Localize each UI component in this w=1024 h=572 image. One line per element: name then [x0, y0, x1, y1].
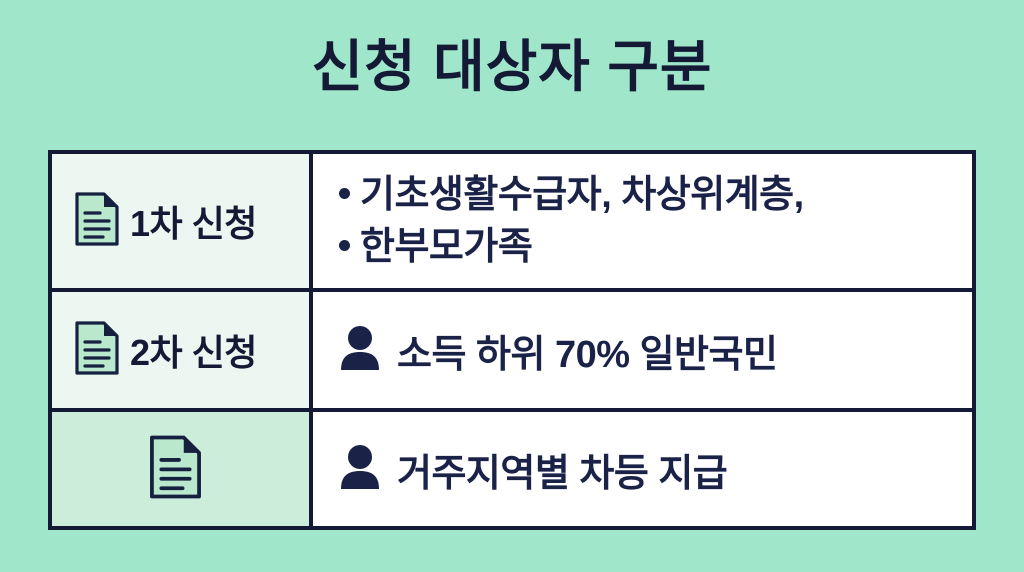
row-label-text: 2차 신청 [130, 324, 257, 376]
document-icon [74, 320, 120, 381]
list-item: 기초생활수급자, 차상위계층, [339, 170, 804, 220]
slide-root: 신청 대상자 구분 1차 신청 [0, 0, 1024, 572]
content-text: 소득 하위 70% 일반국민 [397, 323, 777, 378]
row-content-cell: 기초생활수급자, 차상위계층, 한부모가족 [313, 154, 972, 288]
row-label-cell: 1차 신청 [52, 154, 313, 288]
content-line: 거주지역별 차등 지급 [339, 442, 727, 497]
bullet-list: 기초생활수급자, 차상위계층, 한부모가족 [339, 170, 804, 272]
person-icon [339, 325, 381, 376]
table-row: 거주지역별 차등 지급 [52, 412, 972, 526]
bullet-dot-icon [339, 240, 350, 251]
list-item: 한부모가족 [339, 222, 804, 272]
table-row: 2차 신청 소득 하위 70% 일반국민 [52, 292, 972, 412]
row-label-cell: 2차 신청 [52, 292, 313, 408]
page-title: 신청 대상자 구분 [0, 36, 1024, 98]
eligibility-table: 1차 신청 기초생활수급자, 차상위계층, 한부모가족 [48, 150, 976, 530]
bullet-text: 한부모가족 [360, 222, 532, 272]
document-icon [74, 191, 120, 252]
row-content-cell: 소득 하위 70% 일반국민 [313, 292, 972, 408]
row-label-text: 1차 신청 [130, 195, 257, 247]
content-text: 거주지역별 차등 지급 [397, 442, 727, 497]
row-content-cell: 거주지역별 차등 지급 [313, 412, 972, 526]
bullet-text: 기초생활수급자, 차상위계층, [360, 170, 804, 220]
document-icon [148, 434, 203, 505]
table-row: 1차 신청 기초생활수급자, 차상위계층, 한부모가족 [52, 154, 972, 292]
bullet-dot-icon [339, 188, 350, 199]
row-label-cell [52, 412, 313, 526]
person-icon [339, 444, 381, 495]
content-line: 소득 하위 70% 일반국민 [339, 323, 777, 378]
